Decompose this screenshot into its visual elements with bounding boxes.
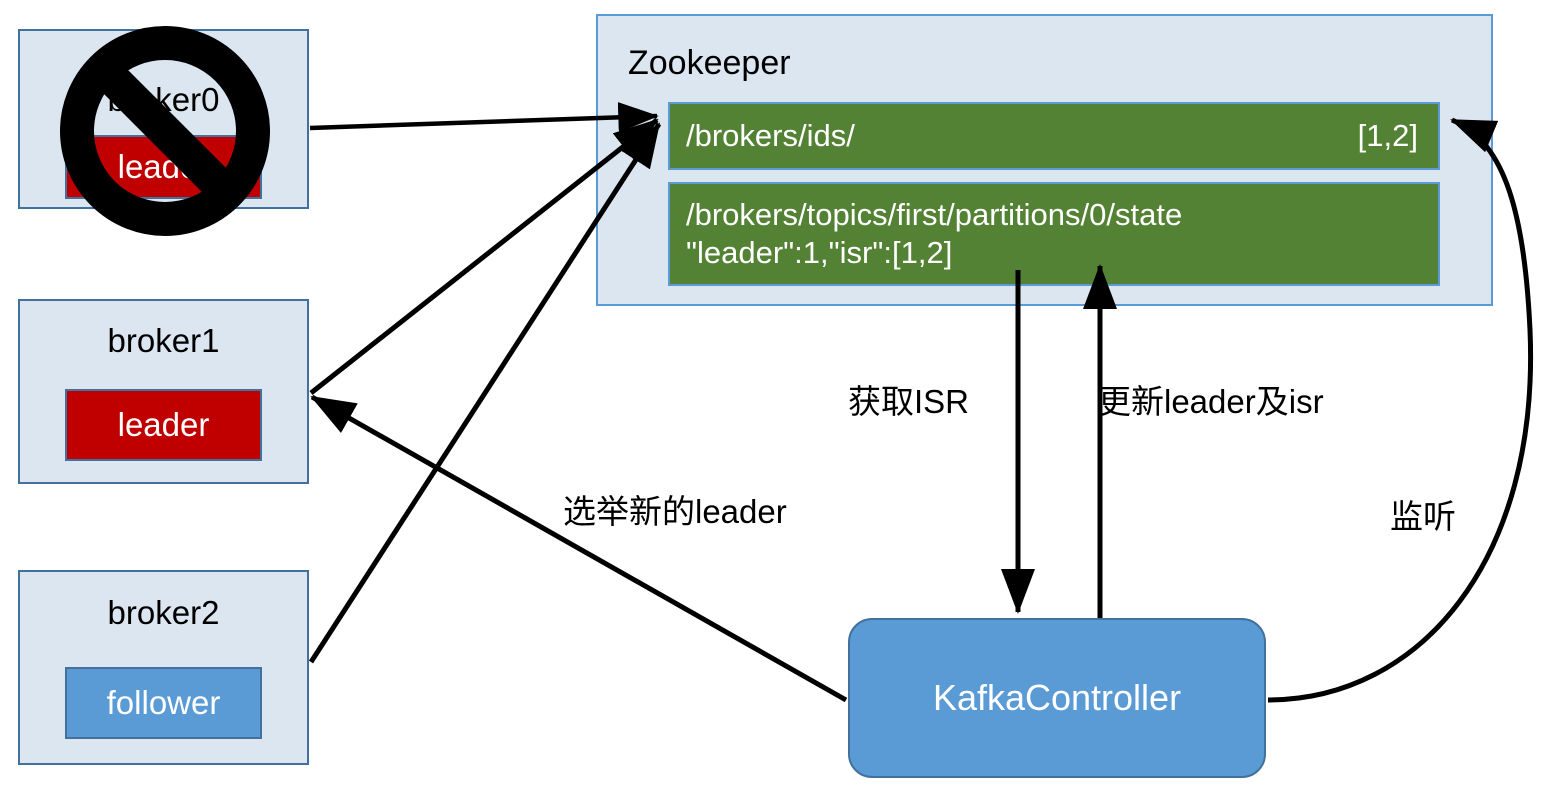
broker1-role-chip: leader [65,389,262,461]
znode-partition-state[interactable]: /brokers/topics/first/partitions/0/state… [668,182,1440,286]
edge-label-watch: 监听 [1390,500,1456,533]
broker2-role-label: follower [107,684,221,722]
kafka-controller-label: KafkaController [933,677,1181,719]
edge-label-update-leader-isr: 更新leader及isr [1098,385,1324,418]
znode-partition-state-path: /brokers/topics/first/partitions/0/state [686,196,1422,234]
broker1-role-label: leader [118,406,210,444]
znode-partition-state-value: "leader":1,"isr":[1,2] [686,234,1422,272]
broker-box-broker2[interactable]: broker2 follower [18,570,309,765]
broker2-title: broker2 [20,596,307,629]
edge-label-get-isr: 获取ISR [848,385,969,418]
broker2-role-chip: follower [65,667,262,739]
broker0-role-label: leader [118,148,210,186]
kafka-controller-box[interactable]: KafkaController [848,618,1266,778]
broker-box-broker1[interactable]: broker1 leader [18,299,309,484]
broker0-title: broker0 [20,83,307,116]
broker0-role-chip: leader [65,135,262,199]
znode-brokers-ids-path: /brokers/ids/ [686,118,855,154]
edge-elect-new-leader [312,397,846,700]
znode-brokers-ids-value: [1,2] [1358,118,1418,154]
zookeeper-title: Zookeeper [628,46,791,80]
edge-label-elect-new-leader: 选举新的leader [563,495,787,528]
broker1-title: broker1 [20,324,307,357]
znode-brokers-ids[interactable]: /brokers/ids/ [1,2] [668,102,1440,170]
broker-box-broker0[interactable]: broker0 leader [18,29,309,209]
diagram-canvas: broker0 leader broker1 leader broker2 fo… [0,0,1564,805]
zookeeper-panel[interactable]: Zookeeper /brokers/ids/ [1,2] /brokers/t… [596,14,1493,306]
